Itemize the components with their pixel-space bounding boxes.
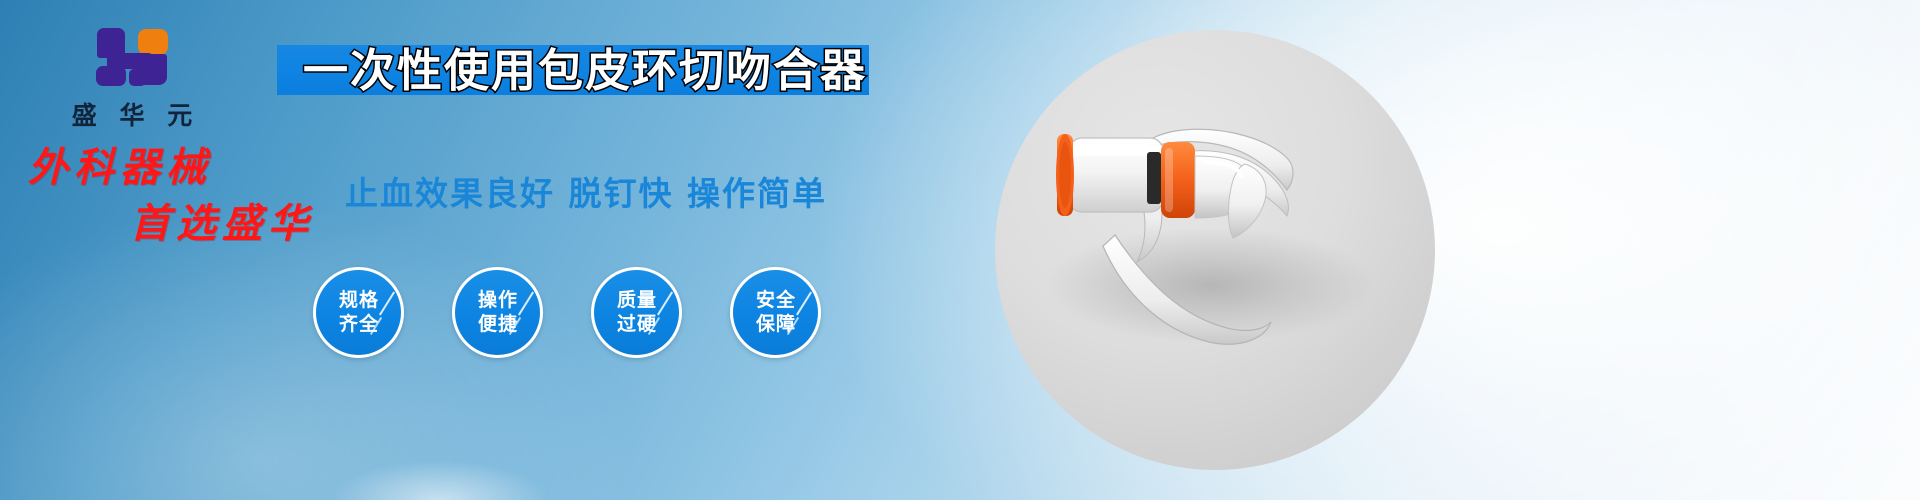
logo-block-orange	[138, 29, 168, 55]
slogan-line-2: 首选盛华	[22, 204, 362, 244]
feature-badge-line-2: 保障	[755, 313, 796, 336]
device-black-band	[1147, 152, 1161, 204]
feature-badge-line-1: 规格	[338, 289, 379, 312]
product-device-illustration	[995, 30, 1435, 470]
product-photo	[995, 30, 1435, 470]
feature-badge-line-2: 便捷	[477, 313, 518, 336]
feature-badge-line-1: 质量	[616, 289, 657, 312]
logo-block-bottom-left	[96, 66, 126, 86]
feature-badge[interactable]: 规格 齐全	[313, 267, 404, 358]
page-title: 一次性使用包皮环切吻合器	[285, 40, 885, 102]
tagline: 止血效果良好 脱钉快 操作简单	[345, 167, 827, 215]
bottom-highlight	[330, 460, 550, 500]
feature-badge[interactable]: 安全 保障	[730, 267, 821, 358]
feature-badge-line-2: 过硬	[616, 313, 657, 336]
logo-mark-icon	[95, 28, 169, 86]
feature-badge-line-2: 齐全	[338, 313, 379, 336]
brand-logo[interactable]: 盛 华 元	[52, 28, 212, 132]
feature-badge-line-1: 操作	[477, 289, 518, 312]
slash-accent-icon	[657, 292, 673, 316]
feature-badge-list: 规格 齐全 操作 便捷 质量 过硬 安全 保障	[313, 267, 821, 358]
slash-accent-icon	[518, 292, 534, 316]
slash-accent-icon	[796, 292, 812, 316]
logo-block-bottom-mid	[129, 69, 146, 86]
brand-slogan: 外科器械 首选盛华	[22, 148, 362, 244]
company-name: 盛 华 元	[52, 96, 212, 132]
slogan-line-1: 外科器械	[22, 148, 362, 188]
product-banner: 盛 华 元 外科器械 首选盛华 一次性使用包皮环切吻合器 止血效果良好 脱钉快 …	[0, 0, 1920, 500]
feature-badge[interactable]: 质量 过硬	[591, 267, 682, 358]
feature-badge-line-1: 安全	[755, 289, 796, 312]
slash-accent-icon	[379, 292, 395, 316]
feature-badge[interactable]: 操作 便捷	[452, 267, 543, 358]
